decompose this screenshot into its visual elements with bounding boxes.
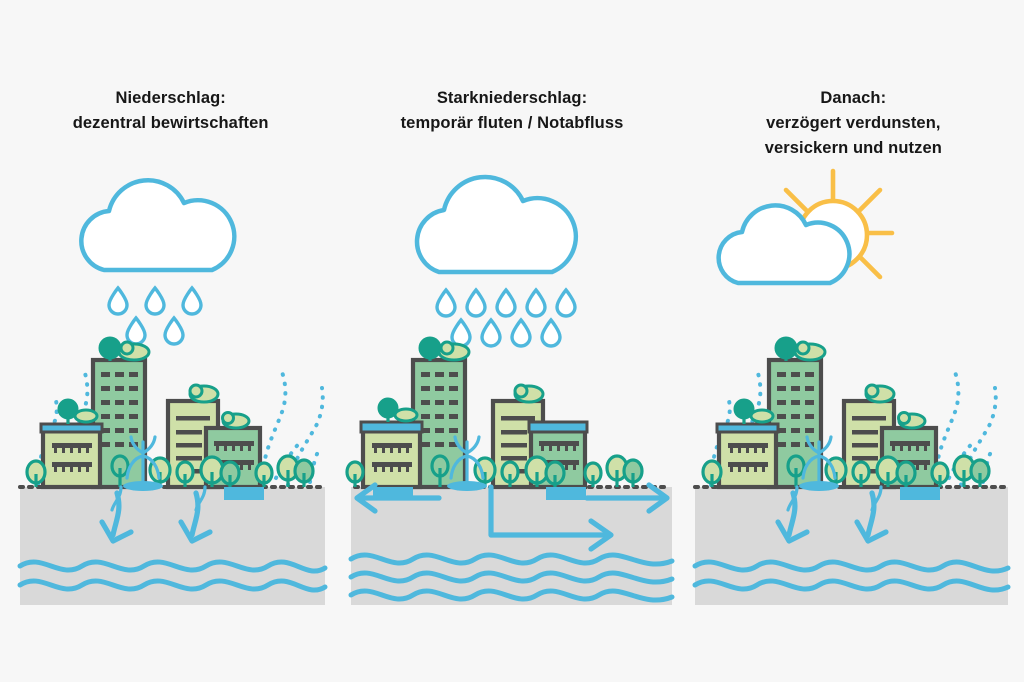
- raindrops-group: [437, 290, 575, 346]
- scene-danach: [683, 160, 1024, 610]
- rooftop-tree-right: [222, 412, 248, 427]
- rooftop-tree-right: [898, 412, 924, 427]
- scene-starkniederschlag: [341, 160, 682, 610]
- rooftop-tree-mid: [866, 385, 894, 402]
- retention-basin: [224, 487, 264, 500]
- rooftop-tree-tall: [776, 338, 825, 361]
- underground-block: [351, 487, 672, 605]
- panel-starkniederschlag: Starkniederschlag: temporär fluten / Not…: [341, 0, 682, 682]
- city-skyline: [27, 338, 313, 510]
- heavy-rain-cloud-icon: [417, 177, 576, 272]
- rain-cloud-icon: [81, 180, 234, 270]
- rooftop-tree-mid: [515, 385, 543, 402]
- raindrops-group: [109, 288, 201, 344]
- panel-title-niederschlag: Niederschlag: dezentral bewirtschaften: [0, 86, 341, 136]
- infographic-canvas: Niederschlag: dezentral bewirtschaften: [0, 0, 1024, 682]
- panel-title-starkniederschlag: Starkniederschlag: temporär fluten / Not…: [341, 86, 682, 136]
- panel-danach: Danach: verzögert verdunsten, versickern…: [683, 0, 1024, 682]
- building-low-left: [41, 424, 102, 487]
- rooftop-tree-mid: [190, 385, 218, 402]
- sun-behind-cloud-icon: [718, 171, 891, 283]
- city-skyline: [347, 338, 642, 500]
- panel-title-danach: Danach: verzögert verdunsten, versickern…: [683, 86, 1024, 161]
- retention-basin: [900, 487, 940, 500]
- panel-row: Niederschlag: dezentral bewirtschaften: [0, 0, 1024, 682]
- retention-basin-right: [546, 487, 586, 500]
- scene-niederschlag: [0, 160, 341, 610]
- building-low-left: [717, 424, 778, 487]
- building-low-left: [361, 422, 422, 487]
- city-skyline: [703, 338, 989, 510]
- panel-niederschlag: Niederschlag: dezentral bewirtschaften: [0, 0, 341, 682]
